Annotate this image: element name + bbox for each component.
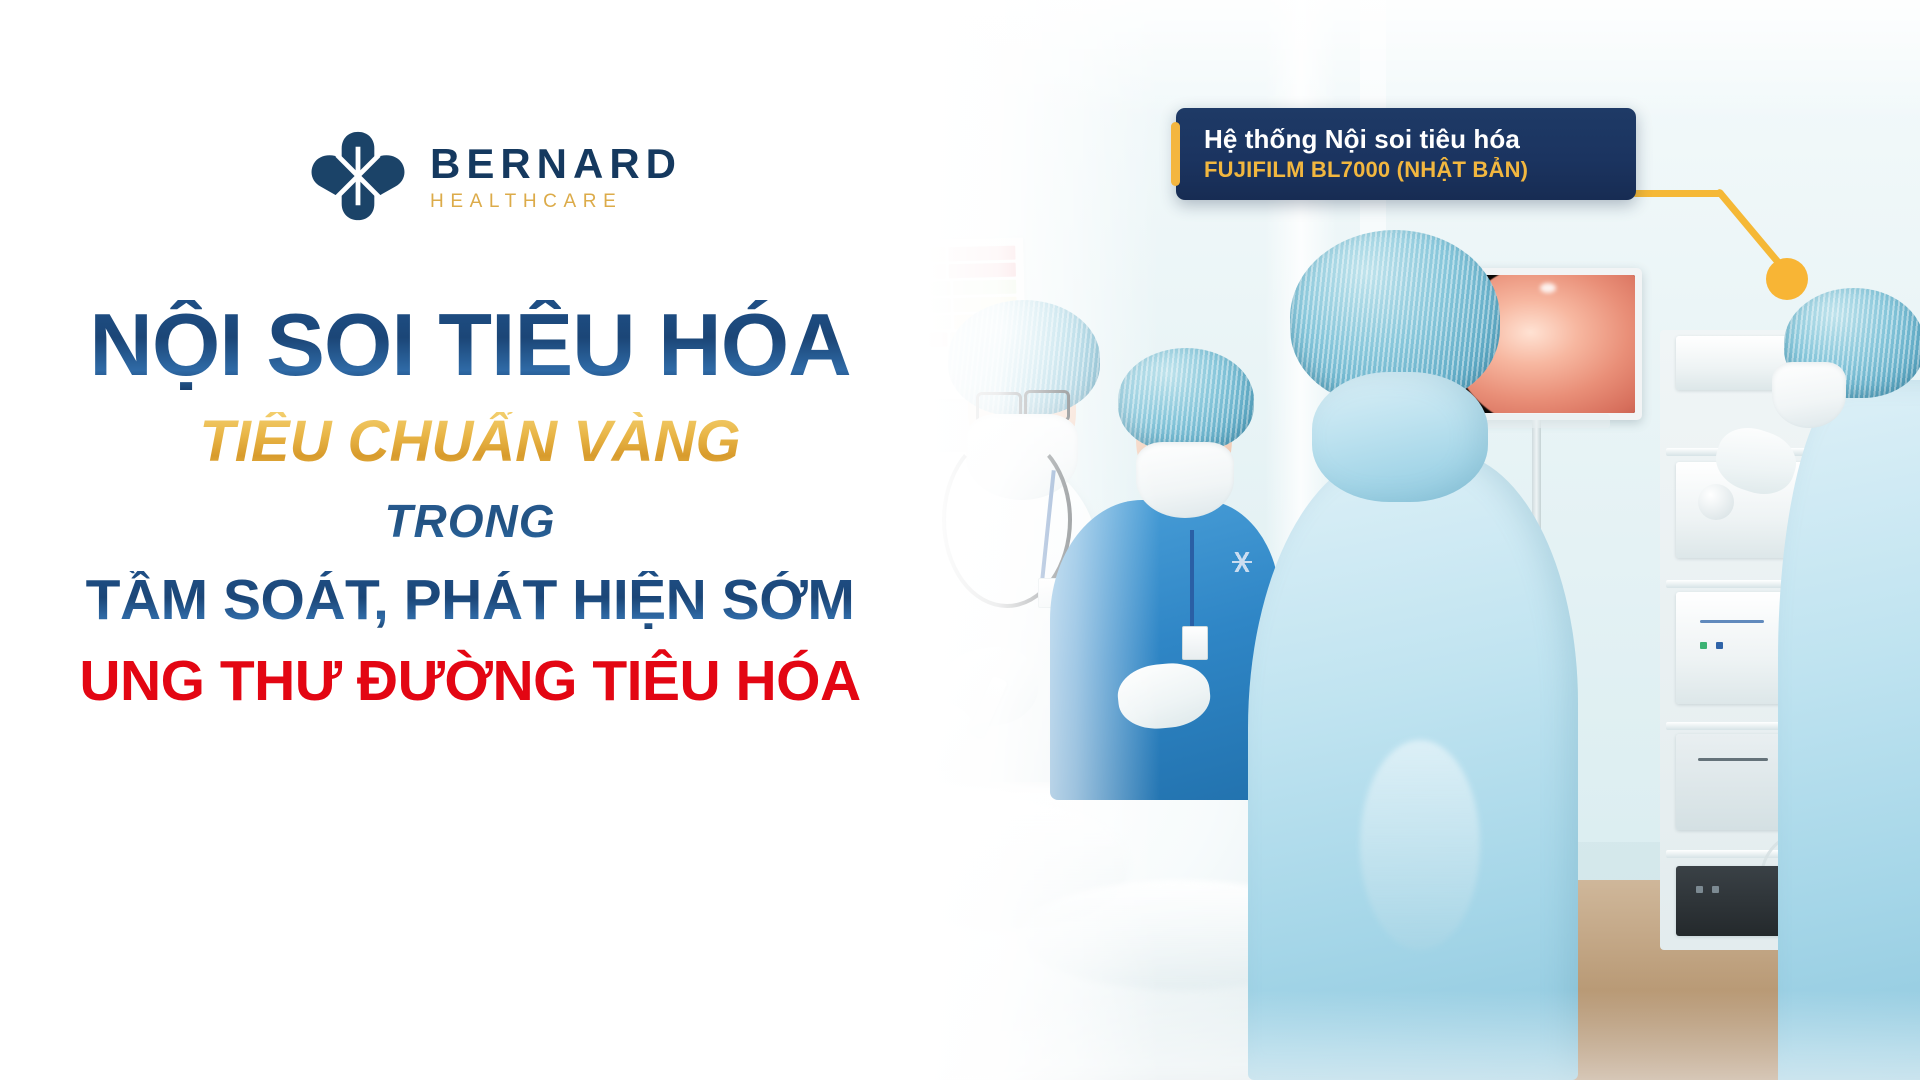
nurse-logo-icon [1232,552,1252,572]
callout-subtitle: FUJIFILM BL7000 (NHẬT BẢN) [1204,157,1528,183]
brand-logo[interactable]: BERNARD HEALTHCARE [310,128,682,224]
photo-top-fade [860,0,1920,120]
poster-canvas: Hệ thống Nội soi tiêu hóa FUJIFILM BL700… [0,0,1920,1080]
assistant-right-mask [1772,362,1846,428]
photo-bottom-fade [860,990,1920,1080]
callout-connector-horizontal [1632,190,1724,197]
equipment-callout-badge: Hệ thống Nội soi tiêu hóa FUJIFILM BL700… [1176,108,1636,200]
nurse-lanyard [1190,530,1194,628]
assistant-left-neck [1312,372,1488,502]
headline-line-1: NỘI SOI TIÊU HÓA [0,300,940,390]
brand-wordmark: BERNARD HEALTHCARE [430,141,682,211]
headline-block: NỘI SOI TIÊU HÓA TIÊU CHUẨN VÀNG TRONG T… [0,300,940,711]
assistant-right-gown [1778,380,1920,1080]
callout-connector-dot [1766,258,1808,300]
headline-line-2: TIÊU CHUẨN VÀNG [0,412,940,473]
callout-title: Hệ thống Nội soi tiêu hóa [1204,124,1528,155]
headline-line-3: TRONG [0,497,940,545]
bernard-floral-mark-icon [310,128,406,224]
headline-line-4: TẦM SOÁT, PHÁT HIỆN SỚM [0,571,940,630]
brand-name: BERNARD [430,143,682,185]
callout-accent-bar [1171,122,1180,186]
nurse-id-badge [1182,626,1208,660]
brand-tagline: HEALTHCARE [430,192,682,211]
headline-line-5: UNG THƯ ĐƯỜNG TIÊU HÓA [0,652,940,711]
